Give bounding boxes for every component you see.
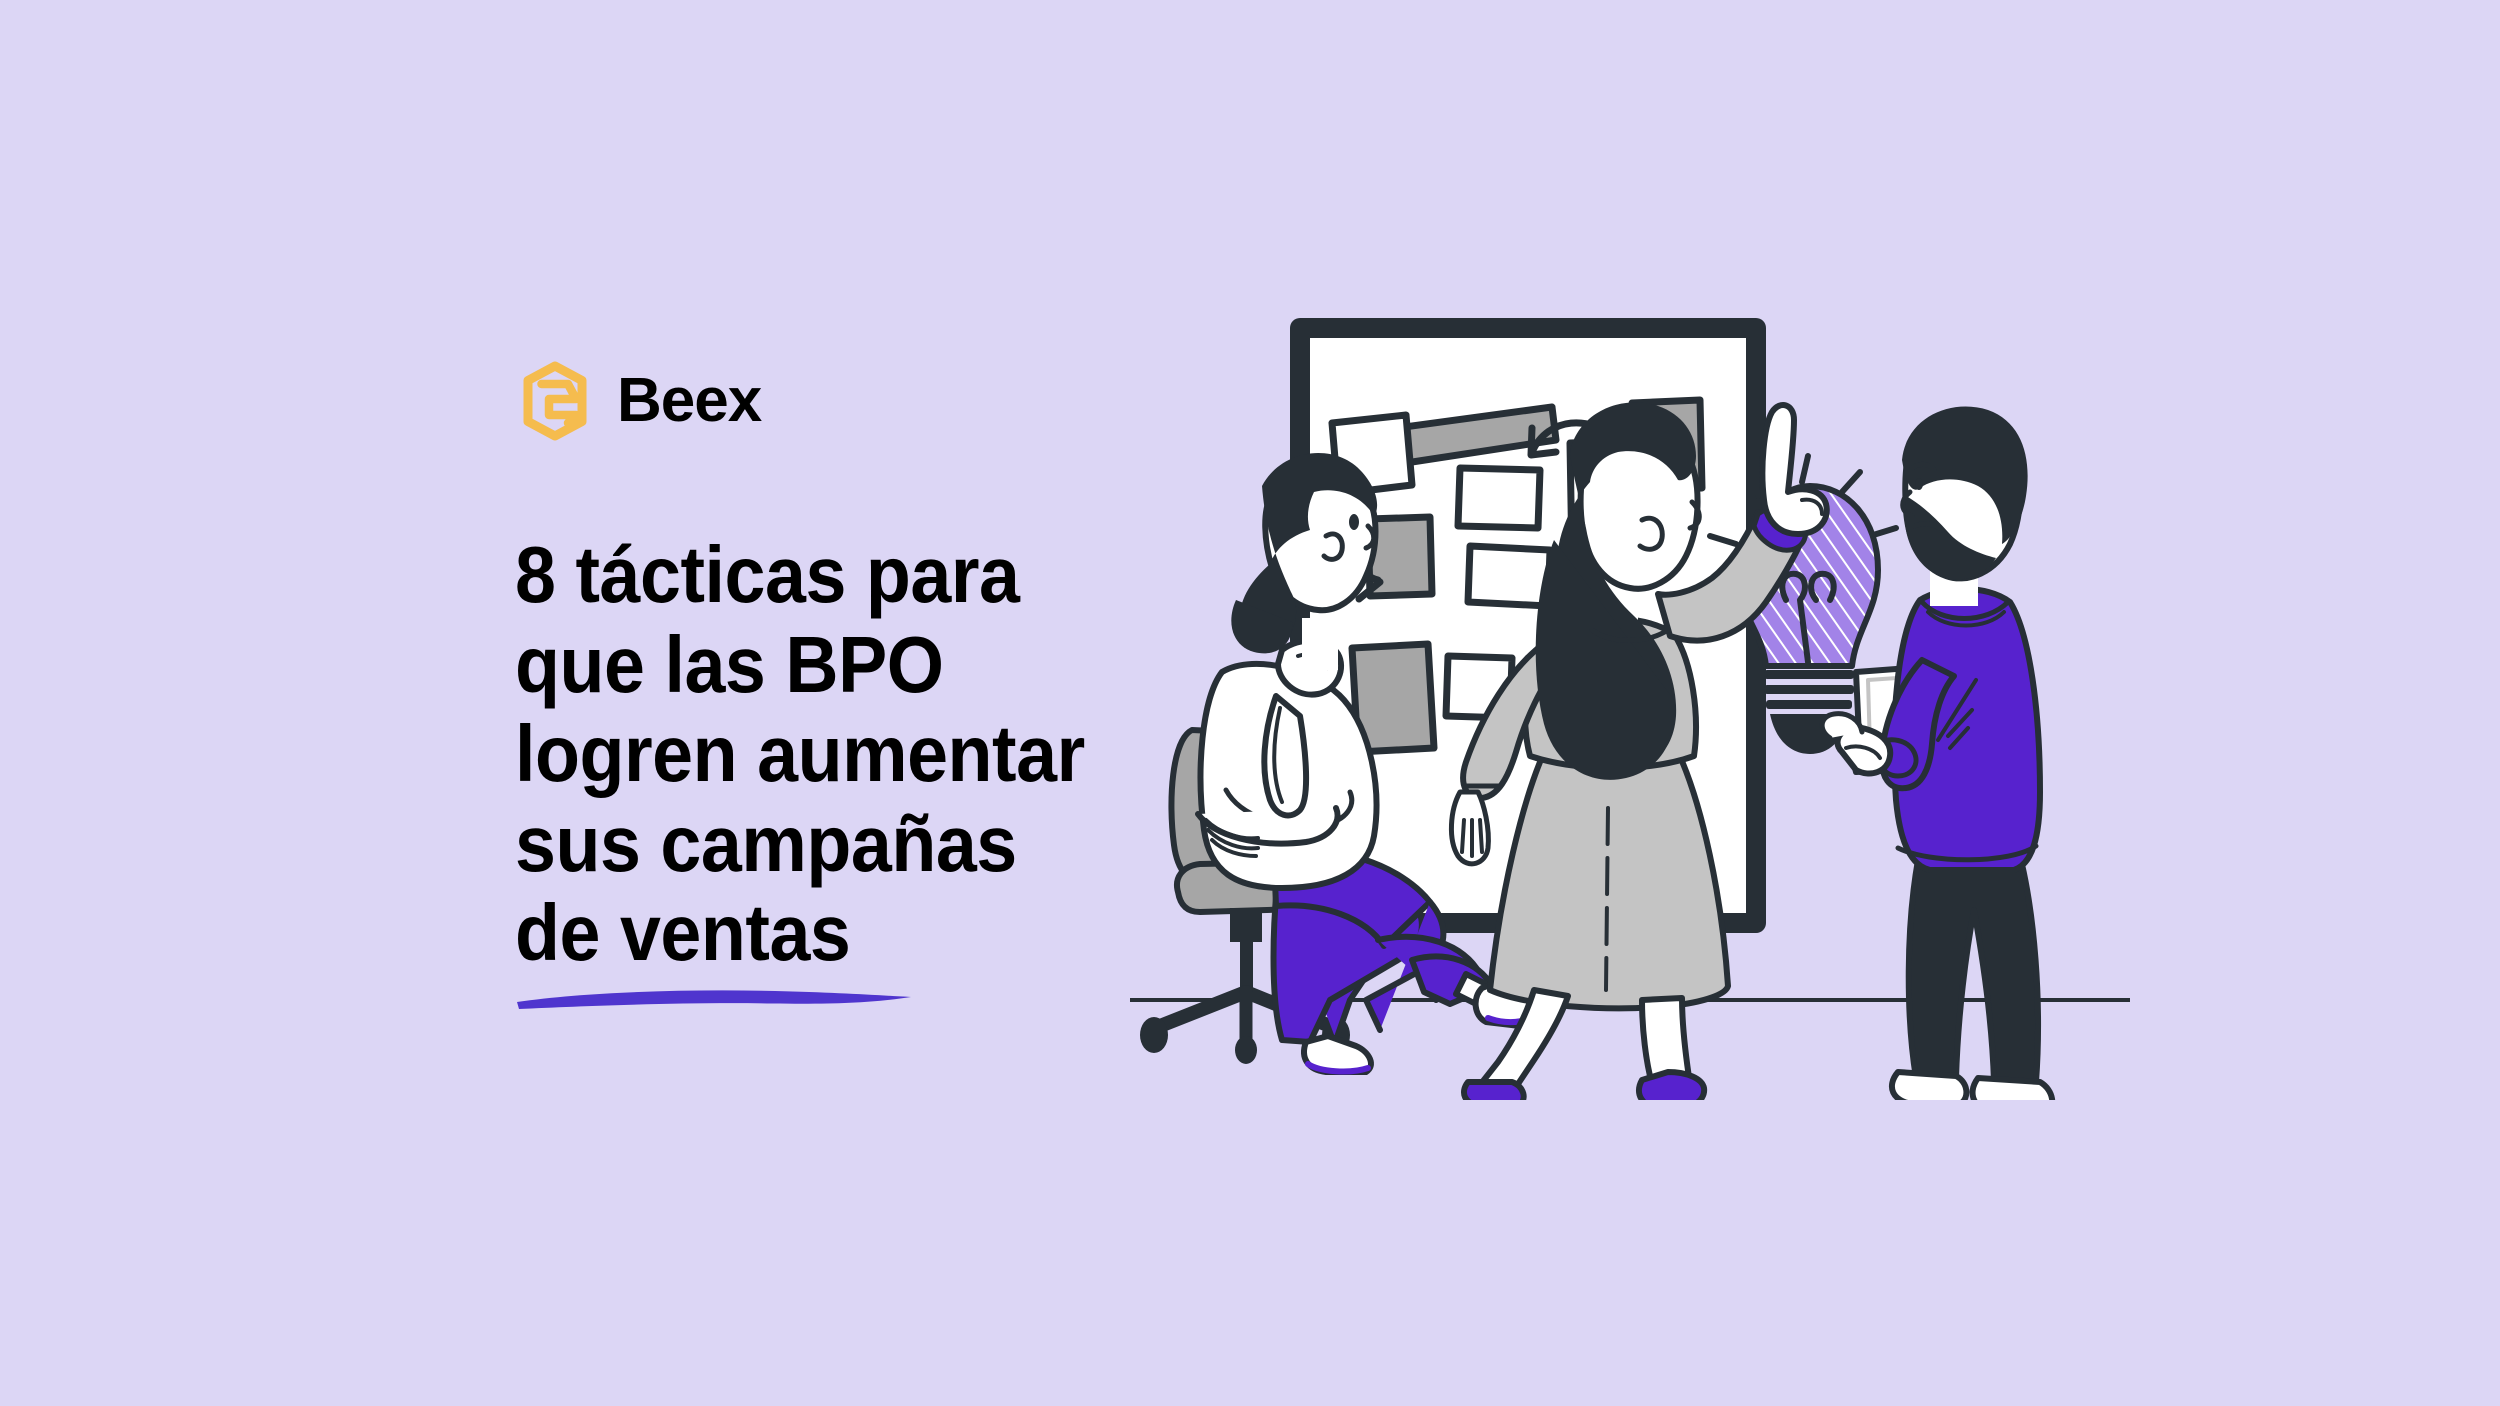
brand-name: Beex <box>617 370 761 432</box>
sticky-note <box>1468 546 1550 606</box>
team-brainstorm-whiteboard-illustration <box>1130 300 2130 1100</box>
page-title: 8 tácticas para que las BPO logren aumen… <box>515 530 1233 978</box>
text-column: Beex 8 tácticas para que las BPO logren … <box>515 360 1215 1012</box>
beex-hexagon-logo-icon <box>515 361 595 441</box>
brand-lockup: Beex <box>515 360 1215 442</box>
poster-canvas: Beex 8 tácticas para que las BPO logren … <box>0 0 2500 1406</box>
hand-drawn-underline-icon <box>515 982 915 1012</box>
sticky-note <box>1458 468 1540 528</box>
